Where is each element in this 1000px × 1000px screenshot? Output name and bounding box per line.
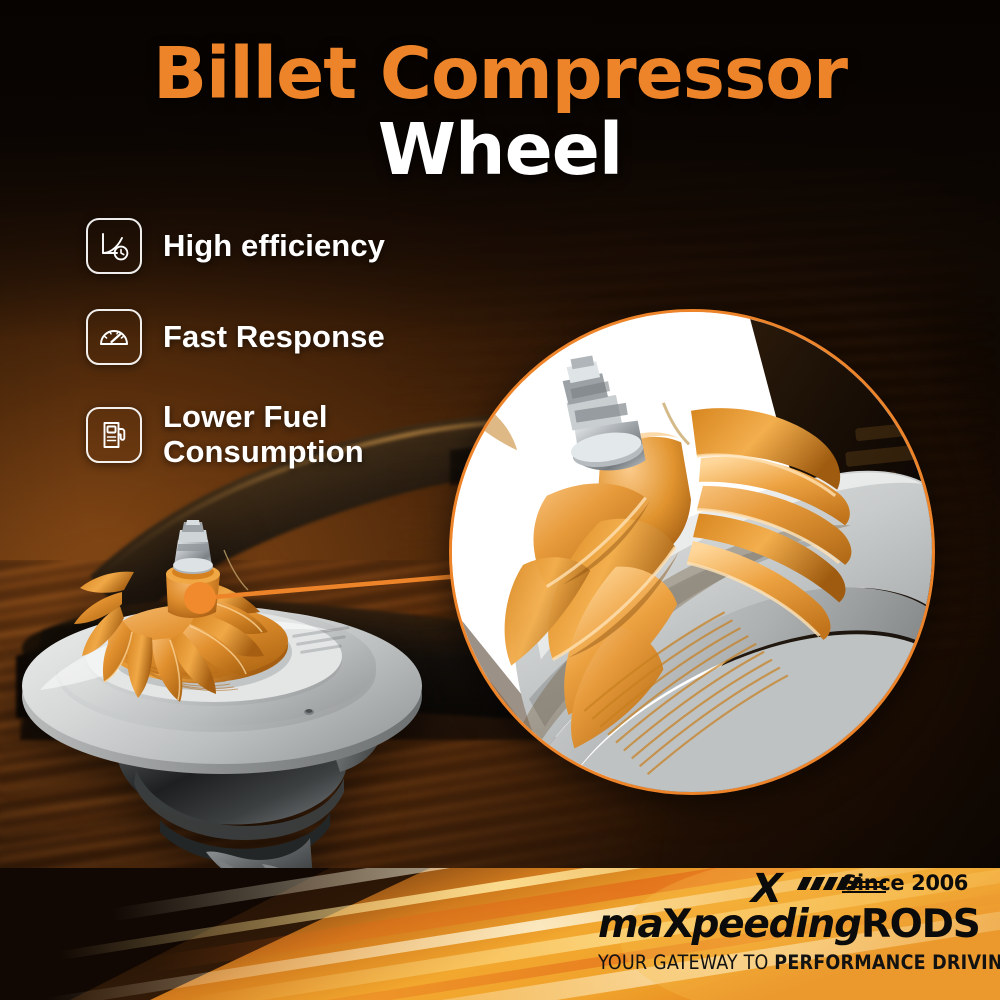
billet-compressor-wheel-detail xyxy=(449,309,935,795)
feature-list: High efficiency Fast Response xyxy=(86,218,486,504)
logo-x-inline: X xyxy=(663,902,692,947)
headline-line-1: Billet Compressor xyxy=(0,40,1000,108)
efficiency-chart-clock-icon xyxy=(86,218,142,274)
since-label: Since 2006 xyxy=(842,873,968,894)
feature-label: High efficiency xyxy=(163,229,385,264)
feature-item-lower-fuel-consumption: Lower Fuel Consumption xyxy=(86,400,486,469)
brand-logo: X Since 2006 maXpeedingRODS YOUR GATEWAY… xyxy=(598,873,968,974)
feature-item-fast-response: Fast Response xyxy=(86,309,486,365)
tagline-bold: PERFORMANCE DRIVING xyxy=(774,951,1000,974)
headline: Billet Compressor Wheel xyxy=(0,40,1000,184)
ad-canvas: Billet Compressor Wheel High efficiency xyxy=(0,0,1000,1000)
feature-item-high-efficiency: High efficiency xyxy=(86,218,486,274)
tagline-light: YOUR GATEWAY TO xyxy=(598,951,769,974)
turbo-cartridge-image xyxy=(10,520,480,900)
logo-suffix: RODS xyxy=(861,902,980,947)
logo-prefix: ma xyxy=(598,902,663,947)
logo-wordmark: maXpeedingRODS xyxy=(598,905,968,944)
feature-label: Lower Fuel Consumption xyxy=(163,400,364,469)
fuel-pump-icon xyxy=(86,407,142,463)
speedometer-gauge-icon xyxy=(86,309,142,365)
logo-tagline: YOUR GATEWAY TO PERFORMANCE DRIVING xyxy=(598,951,968,974)
shaft-nut xyxy=(173,520,213,574)
feature-label: Fast Response xyxy=(163,320,385,355)
headline-line-2: Wheel xyxy=(0,116,1000,184)
